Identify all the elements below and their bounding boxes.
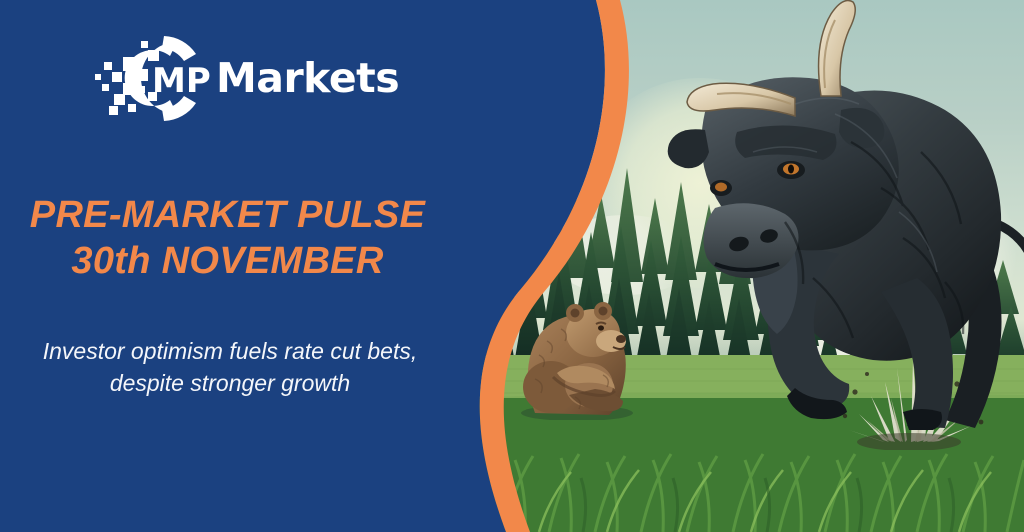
bull-icon	[645, 0, 1024, 432]
brand-logo[interactable]: MP Markets	[92, 28, 399, 128]
bear-icon	[517, 285, 647, 420]
logo-wordmark: Markets	[216, 54, 399, 102]
subtitle-line-1: Investor optimism fuels rate cut bets,	[43, 338, 418, 364]
headline-line-1: PRE-MARKET PULSE	[30, 194, 425, 236]
subtitle: Investor optimism fuels rate cut bets, d…	[0, 336, 460, 399]
left-content: MP Markets PRE-MARKET PULSE 30th NOVEMBE…	[0, 0, 470, 532]
subtitle-line-2: despite stronger growth	[0, 368, 460, 400]
mp-markets-logo-icon: MP	[92, 28, 212, 128]
logo-initials: MP	[152, 61, 211, 101]
page-title: PRE-MARKET PULSE 30th NOVEMBER	[0, 192, 455, 285]
pre-market-pulse-banner: MP Markets PRE-MARKET PULSE 30th NOVEMBE…	[0, 0, 1024, 532]
headline-line-2: 30th NOVEMBER	[0, 238, 455, 284]
